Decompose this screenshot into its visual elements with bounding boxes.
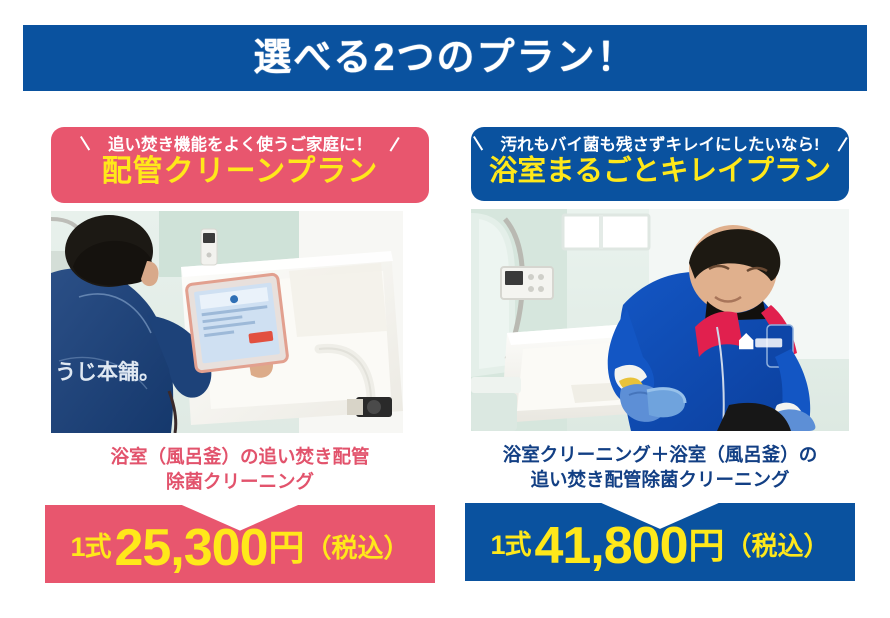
price-tax-note: （税込） [726,533,830,559]
price-block-pipe-clean: 1式 25,300 円 （税込） [45,505,435,583]
plan-card-pipe-clean[interactable]: 追い焚き機能をよく使うご家庭に！ 配管クリーンプラン [45,118,435,583]
plan-description: 浴室（風呂釜）の追い焚き配管 除菌クリーニング [45,445,435,495]
plan-photo-pipe-clean: うじ本舗。 [51,211,429,433]
slash-right-icon [380,138,402,152]
price-unit: 1式 [490,532,530,559]
price-currency: 円 [269,530,305,566]
plan-columns: 追い焚き機能をよく使うご家庭に！ 配管クリーンプラン [0,118,890,618]
price-unit: 1式 [70,534,110,561]
plan-photo-bathroom-full-clean [471,209,849,431]
plan-title: 配管クリーンプラン [51,155,429,190]
price-text: 1式 41,800 円 （税込） [465,503,855,581]
price-currency: 円 [689,528,725,564]
plan-subtitle: 追い焚き機能をよく使うご家庭に！ [108,136,372,154]
plan-card-bathroom-full-clean[interactable]: 汚れもバイ菌も残さずキレイにしたいなら! 浴室まるごとキレイプラン [465,118,855,581]
slash-left-icon [471,138,493,152]
price-block-bathroom-full-clean: 1式 41,800 円 （税込） [465,503,855,581]
photo-illustration-technician-tablet: うじ本舗。 [51,211,429,433]
price-tax-note: （税込） [306,535,410,561]
photo-illustration-technician-scrubbing [471,209,849,431]
plan-subtitle: 汚れもバイ菌も残さずキレイにしたいなら! [501,136,820,154]
price-amount: 25,300 [114,522,267,574]
slash-left-icon [78,138,100,152]
plan-description: 浴室クリーニング＋浴室（風呂釜）の 追い焚き配管除菌クリーニング [465,443,855,493]
plan-subtitle-row: 追い焚き機能をよく使うご家庭に！ [51,136,429,154]
page-banner: 選べる2つのプラン！ [23,25,867,91]
promo-page: 選べる2つのプラン！ 追い焚き機能をよく使うご家庭に！ 配管クリーンプラン [0,0,890,616]
price-amount: 41,800 [534,520,687,572]
price-text: 1式 25,300 円 （税込） [45,505,435,583]
uniform-back-text: うじ本舗。 [55,360,160,384]
plan-title: 浴室まるごとキレイプラン [471,155,849,188]
plan-header-bathroom-full-clean: 汚れもバイ菌も残さずキレイにしたいなら! 浴室まるごとキレイプラン [471,127,849,201]
plan-subtitle-row: 汚れもバイ菌も残さずキレイにしたいなら! [471,136,849,154]
plan-header-pipe-clean: 追い焚き機能をよく使うご家庭に！ 配管クリーンプラン [51,127,429,203]
page-title: 選べる2つのプラン！ [253,39,636,77]
slash-right-icon [828,138,850,152]
